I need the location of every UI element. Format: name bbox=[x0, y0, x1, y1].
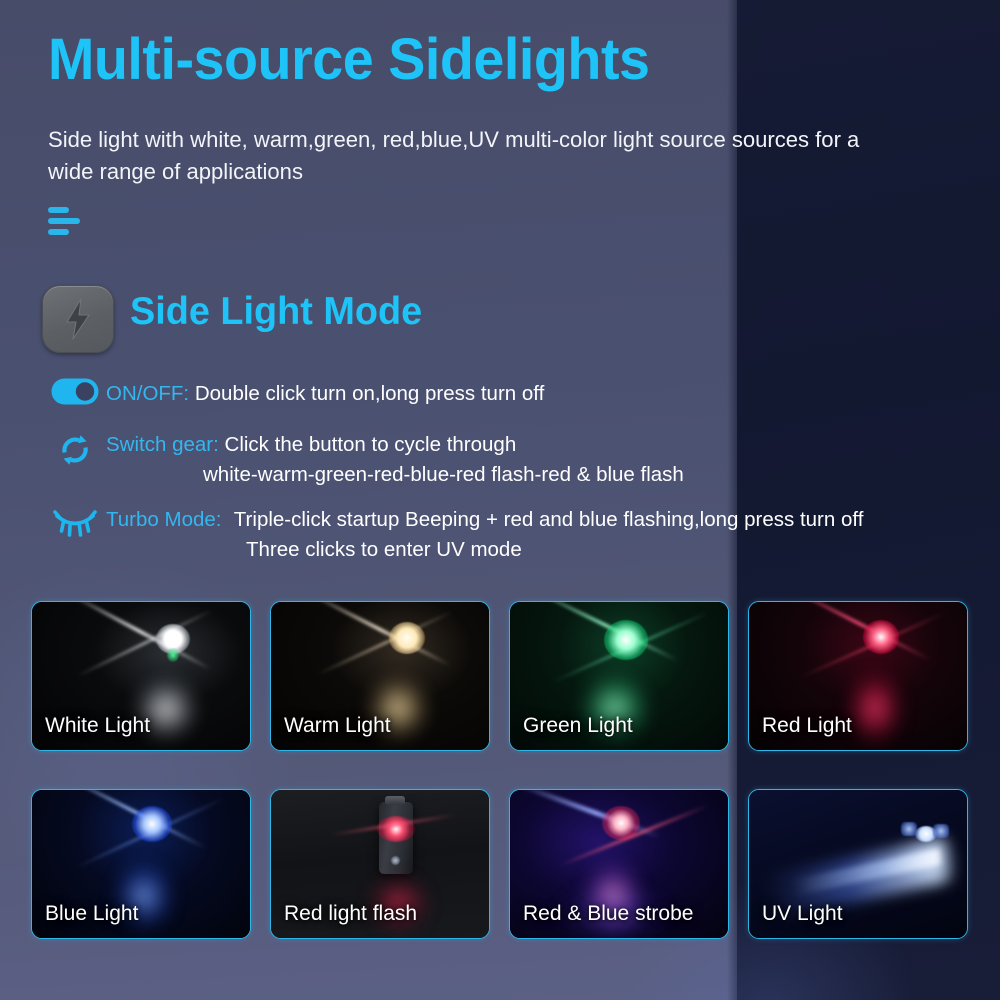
feature-key-switch-gear: Switch gear: bbox=[106, 433, 219, 456]
card-white-light[interactable]: White Light bbox=[31, 601, 251, 751]
page-title: Multi-source Sidelights bbox=[48, 30, 650, 91]
card-red-light-flash[interactable]: Red light flash bbox=[270, 789, 490, 939]
card-uv-light[interactable]: UV Light bbox=[748, 789, 968, 939]
card-green-light[interactable]: Green Light bbox=[509, 601, 729, 751]
card-label: Green Light bbox=[523, 714, 633, 738]
feature-desc-onoff: Double click turn on,long press turn off bbox=[195, 382, 544, 405]
turbo-eyelash-icon[interactable] bbox=[44, 505, 106, 537]
feature-text-switch-gear: Switch gear: Click the button to cycle t… bbox=[106, 430, 684, 489]
lightning-bolt-icon bbox=[42, 285, 114, 353]
card-warm-light[interactable]: Warm Light bbox=[270, 601, 490, 751]
feature-desc2-turbo-mode: Three clicks to enter UV mode bbox=[106, 535, 863, 565]
card-label: White Light bbox=[45, 714, 150, 738]
card-label: Red Light bbox=[762, 714, 852, 738]
feature-desc2-switch-gear: white-warm-green-red-blue-red flash-red … bbox=[106, 460, 684, 490]
feature-key-onoff: ON/OFF: bbox=[106, 382, 189, 405]
light-mode-card-grid: White Light Warm Light bbox=[31, 601, 971, 939]
card-label: Red & Blue strobe bbox=[523, 902, 693, 926]
card-label: Blue Light bbox=[45, 902, 138, 926]
infographic-page: Multi-source Sidelights Side light with … bbox=[0, 0, 1000, 1000]
list-bars-icon bbox=[48, 207, 88, 241]
card-red-light[interactable]: Red Light bbox=[748, 601, 968, 751]
feature-desc-turbo-mode: Triple-click startup Beeping + red and b… bbox=[234, 508, 864, 531]
feature-row-onoff: ON/OFF: Double click turn on,long press … bbox=[44, 378, 544, 409]
page-subtitle: Side light with white, warm,green, red,b… bbox=[48, 124, 861, 188]
section-title: Side Light Mode bbox=[130, 290, 422, 334]
feature-desc-switch-gear: Click the button to cycle through bbox=[225, 433, 517, 456]
feature-row-switch-gear: Switch gear: Click the button to cycle t… bbox=[44, 430, 684, 489]
cycle-arrows-icon[interactable] bbox=[44, 430, 106, 468]
card-label: Red light flash bbox=[284, 902, 417, 926]
toggle-switch-on-icon[interactable] bbox=[44, 378, 106, 405]
card-blue-light[interactable]: Blue Light bbox=[31, 789, 251, 939]
card-red-blue-strobe[interactable]: Red & Blue strobe bbox=[509, 789, 729, 939]
feature-text-turbo-mode: Turbo Mode: Triple-click startup Beeping… bbox=[106, 505, 863, 564]
feature-text-onoff: ON/OFF: Double click turn on,long press … bbox=[106, 378, 544, 409]
feature-row-turbo-mode: Turbo Mode: Triple-click startup Beeping… bbox=[44, 505, 863, 564]
card-label: Warm Light bbox=[284, 714, 391, 738]
feature-key-turbo-mode: Turbo Mode: bbox=[106, 508, 221, 531]
card-label: UV Light bbox=[762, 902, 843, 926]
